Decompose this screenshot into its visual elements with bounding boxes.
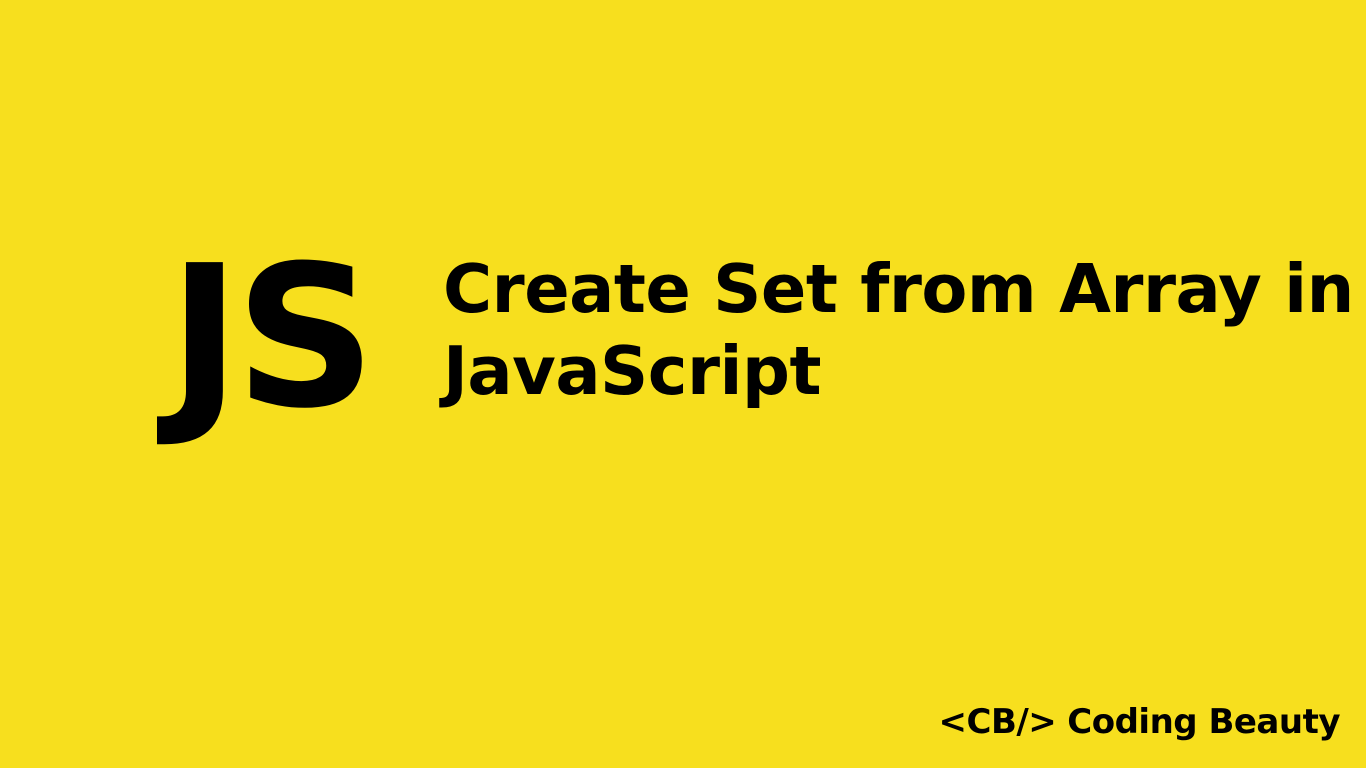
brand-footer: <CB/> Coding Beauty [939, 704, 1341, 740]
hero-row: JS Create Set from Array in JavaScript [0, 248, 1366, 428]
title-line-2: JavaScript [443, 330, 1243, 412]
brand-name-label: Coding Beauty [1067, 704, 1340, 740]
coding-beauty-mark-icon: <CB/> [939, 704, 1057, 740]
page-title: Create Set from Array in JavaScript [443, 248, 1243, 412]
javascript-logo: JS [168, 248, 378, 428]
blog-cover-card: JS Create Set from Array in JavaScript <… [0, 0, 1366, 768]
title-line-1: Create Set from Array in [443, 248, 1243, 330]
